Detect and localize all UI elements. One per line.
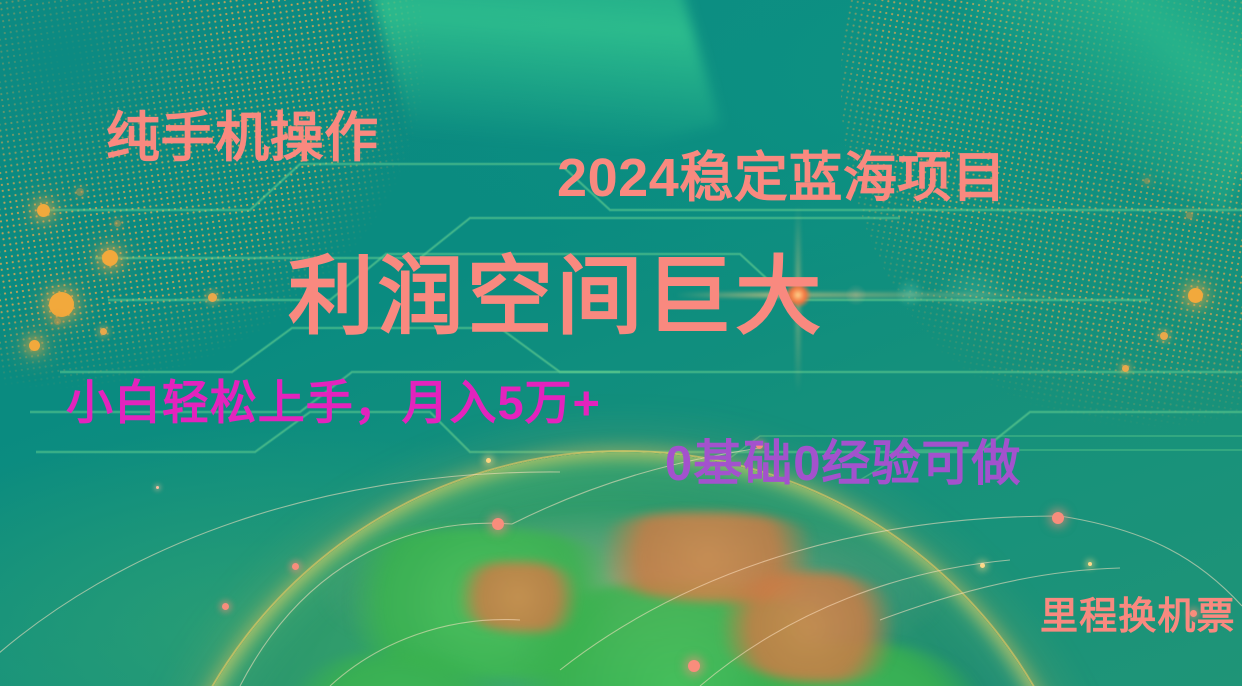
sparkle-decor <box>1088 562 1092 566</box>
circuit-node <box>37 204 50 217</box>
circuit-node <box>76 188 84 196</box>
headline-zero-experience: 0基础0经验可做 <box>665 424 1021 495</box>
flare-ghost-decor <box>895 278 925 308</box>
headline-phone-only: 纯手机操作 <box>106 93 379 172</box>
circuit-node <box>208 293 217 302</box>
circuit-node <box>1160 332 1168 340</box>
circuit-node <box>1188 288 1203 303</box>
sparkle-decor <box>980 563 985 568</box>
circuit-node <box>114 220 121 227</box>
poster-canvas: 纯手机操作 2024稳定蓝海项目 利润空间巨大 小白轻松上手，月入5万+ 0基础… <box>0 0 1242 686</box>
circuit-node <box>54 318 61 325</box>
circuit-node <box>100 328 107 335</box>
circuit-node <box>49 292 74 317</box>
circuit-node <box>1144 178 1150 184</box>
circuit-node <box>102 250 118 266</box>
circuit-node <box>1186 212 1193 219</box>
sparkle-decor <box>156 486 159 489</box>
circuit-node <box>29 340 40 351</box>
circuit-node <box>1122 365 1129 372</box>
route-hub-decor <box>1052 512 1064 524</box>
watermark-brand: 里程换机票 <box>1040 585 1236 640</box>
headline-profit: 利润空间巨大 <box>288 226 825 351</box>
headline-easy-income: 小白轻松上手，月入5万+ <box>66 364 601 433</box>
flare-ghost-decor <box>845 284 867 306</box>
flare-ghost-decor <box>935 266 1013 316</box>
route-hub-decor <box>222 603 229 610</box>
headline-year-project: 2024稳定蓝海项目 <box>557 133 1007 212</box>
